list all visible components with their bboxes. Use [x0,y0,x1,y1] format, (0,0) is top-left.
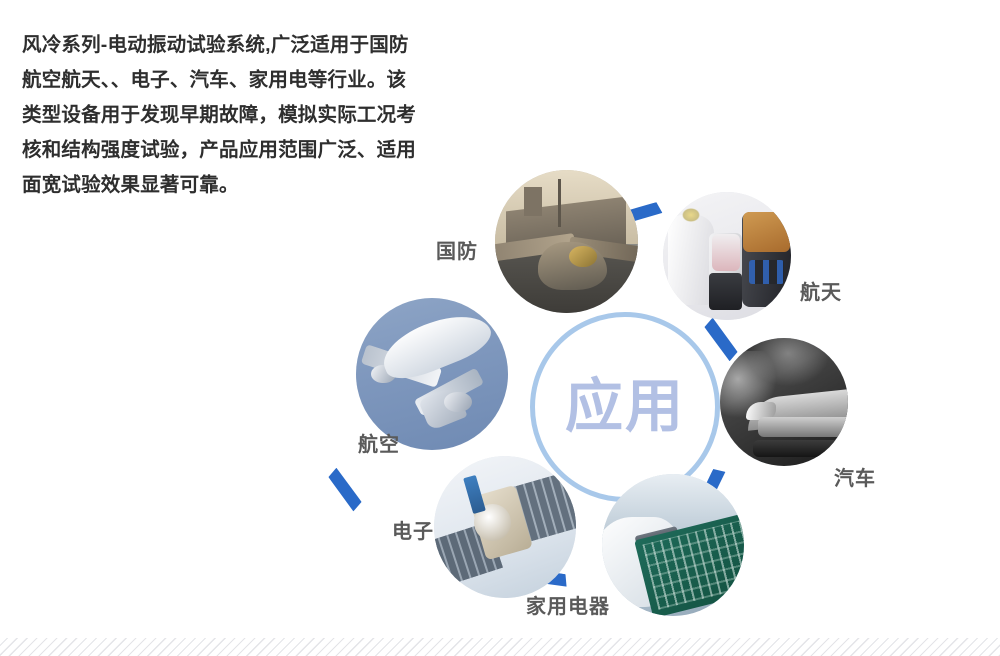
connector-dash-5 [326,466,363,513]
defense-image [495,170,638,313]
application-diagram: 应用 国防 [330,150,950,650]
electronic-image [434,456,576,598]
defense-label: 国防 [436,235,478,264]
bottom-stripe-band [0,638,1000,656]
electronic-label: 电子 [392,515,434,544]
aerospace-label: 航天 [800,276,842,305]
center-label: 应用 [565,378,685,436]
aerospace-image [663,192,791,320]
page-canvas: 风冷系列-电动振动试验系统,广泛适用于国防航空航天、、电子、汽车、家用电等行业。… [0,0,1000,656]
appliance-image [602,474,744,616]
automobile-image [720,338,848,466]
automobile-label: 汽车 [834,462,876,491]
aviation-label: 航空 [358,428,400,457]
